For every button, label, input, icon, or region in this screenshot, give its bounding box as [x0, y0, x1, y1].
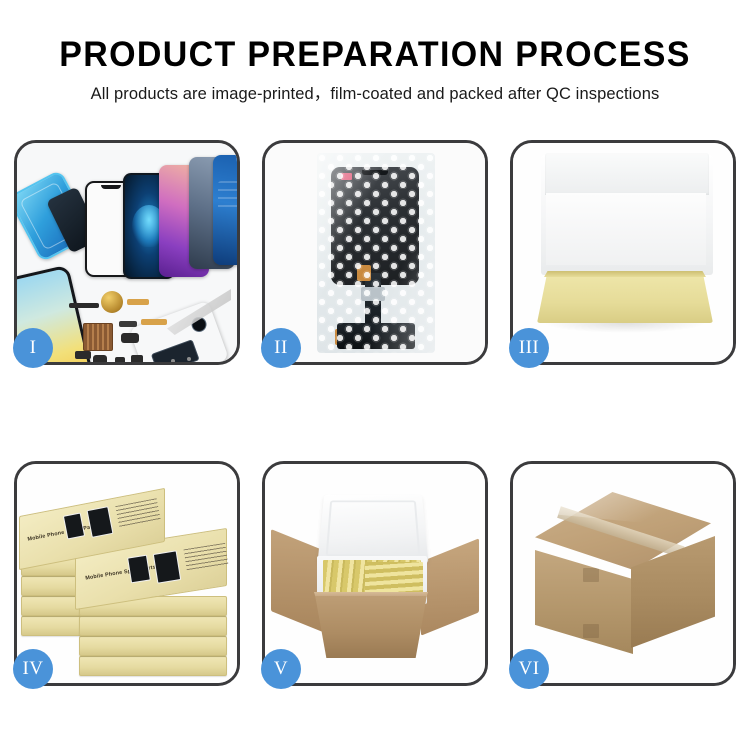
flex-cable-graphic [119, 321, 137, 327]
process-step-panel-3: III [510, 140, 736, 365]
stacked-box [79, 616, 227, 636]
carton-front-panel [309, 596, 433, 658]
step-badge-3: III [509, 328, 549, 368]
screw-graphic [171, 359, 175, 362]
carton-handle-tab [583, 624, 599, 638]
process-step-panel-4: Mobile Phone Spare Parts Mobile Phone Sp… [14, 461, 240, 686]
step-6-image [513, 464, 733, 683]
box-artwork-screen [127, 555, 151, 584]
stacked-box [79, 656, 227, 676]
spare-parts-cluster [75, 293, 225, 362]
product-preparation-infographic: PRODUCT PREPARATION PROCESS All products… [0, 0, 750, 750]
part-chip [93, 355, 107, 362]
carton-handle-tab [583, 568, 599, 582]
page-subtitle: All products are image-printed，film-coat… [0, 83, 750, 105]
part-chip [121, 333, 139, 343]
part-chip [75, 351, 91, 359]
foam-lid-graphic [318, 495, 429, 564]
page-title: PRODUCT PREPARATION PROCESS [11, 34, 739, 76]
step-2-image [265, 143, 485, 362]
step-badge-4: IV [13, 649, 53, 689]
carton-flap-right [421, 538, 479, 635]
drop-shadow [543, 323, 707, 333]
part-chip [69, 303, 99, 308]
process-step-panel-2: II [262, 140, 488, 365]
box-lid-graphic [545, 153, 709, 195]
kraft-box-rim [537, 271, 713, 277]
step-5-image [265, 464, 485, 683]
bubble-wrap-bag [317, 153, 435, 353]
screw-graphic [187, 357, 191, 361]
part-chip [131, 355, 143, 362]
connector-array-graphic [83, 323, 113, 351]
plastic-sheen [317, 153, 435, 353]
speaker-module-graphic [101, 291, 123, 313]
step-4-image: Mobile Phone Spare Parts Mobile Phone Sp… [17, 464, 237, 683]
process-step-panel-5: V [262, 461, 488, 686]
carton-left-face [535, 550, 633, 654]
step-badge-2: II [261, 328, 301, 368]
step-1-image [17, 143, 237, 362]
step-badge-5: V [261, 649, 301, 689]
kraft-box-base [537, 271, 713, 323]
step-badge-6: VI [509, 649, 549, 689]
step-badge-1: I [13, 328, 53, 368]
process-step-grid: I [14, 140, 736, 686]
process-step-panel-1: I [14, 140, 240, 365]
part-chip [115, 357, 125, 362]
blue-ui-phone-graphic [213, 155, 237, 265]
box-stack: Mobile Phone Spare Parts Mobile Phone Sp… [19, 478, 235, 678]
step-3-image [513, 143, 733, 362]
process-step-panel-6: VI [510, 461, 736, 686]
foam-pad-graphic [546, 193, 706, 265]
header: PRODUCT PREPARATION PROCESS All products… [0, 0, 750, 105]
flex-cable-graphic [127, 299, 149, 305]
flex-cable-graphic [141, 319, 167, 325]
stacked-box [79, 636, 227, 656]
box-artwork-screen [153, 550, 181, 583]
